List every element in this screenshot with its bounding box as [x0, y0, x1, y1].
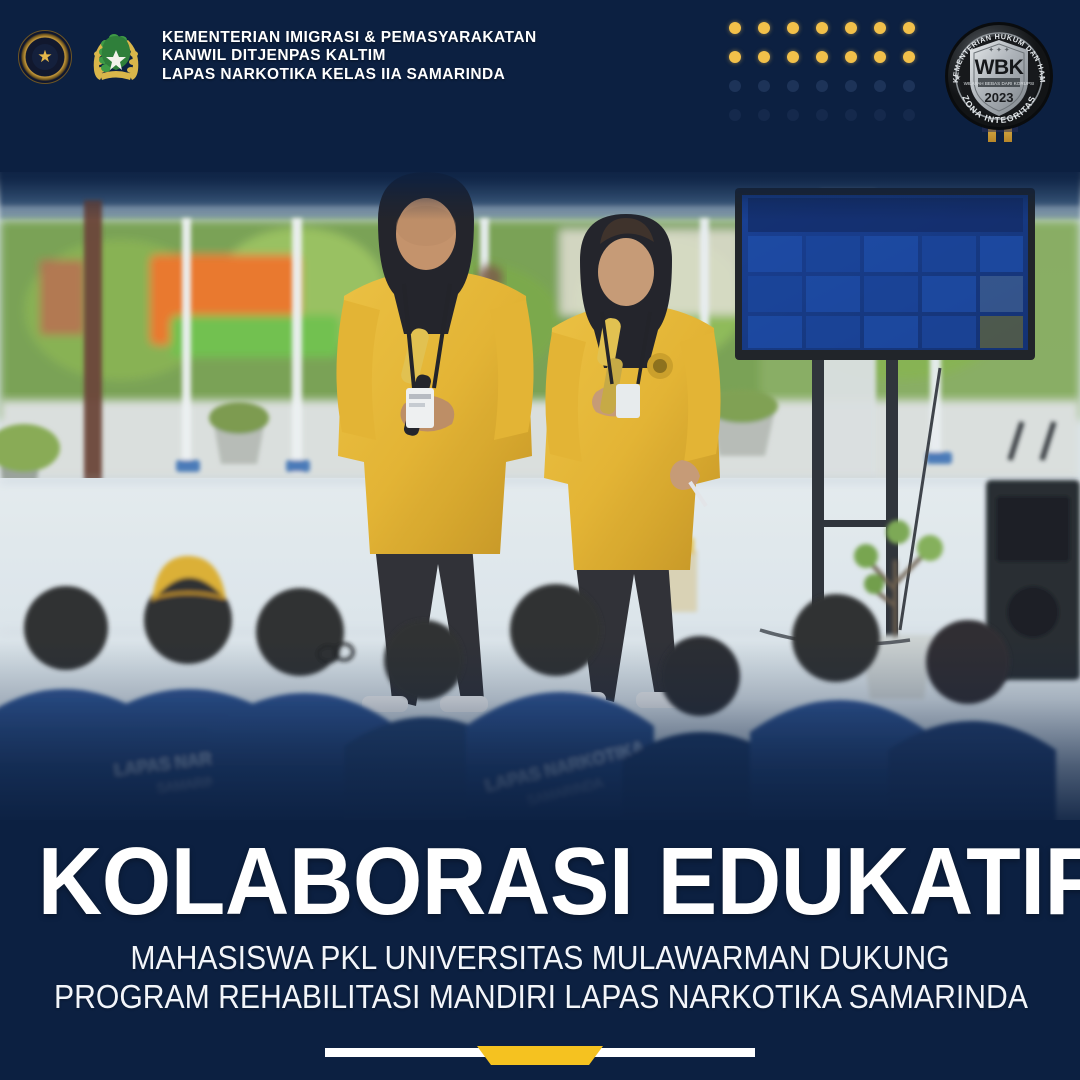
- divider-ornament-icon: [325, 1037, 755, 1067]
- garuda-seal-icon: ★: [18, 30, 72, 84]
- svg-text:✦ ✦ ✦: ✦ ✦ ✦: [988, 46, 1010, 54]
- subtitle-line-2: PROGRAM REHABILITASI MANDIRI LAPAS NARKO…: [54, 979, 1026, 1017]
- header-line-3: LAPAS NARKOTIKA KELAS IIA SAMARINDA: [162, 66, 537, 85]
- dot-grid-ornament: [729, 22, 932, 138]
- wbk-zona-integritas-medal-icon: ✦ ✦ ✦ WBK WILAYAH BEBAS DARI KORUPSI 202…: [940, 18, 1058, 146]
- header-identity: ★: [18, 24, 537, 89]
- photo-illustration: LAPAS NARKOTIKA SAMARINDA LAPAS NARKOTIK…: [0, 160, 1080, 860]
- medal-star-right: ★: [1038, 73, 1045, 82]
- header-text-block: KEMENTERIAN IMIGRASI & PEMASYARAKATAN KA…: [162, 29, 537, 85]
- subtitle-line-1: MAHASISWA PKL UNIVERSITAS MULAWARMAN DUK…: [54, 940, 1026, 978]
- medal-center-text: WBK: [975, 56, 1024, 79]
- poster-canvas: LAPAS NARKOTIKA SAMARINDA LAPAS NARKOTIK…: [0, 0, 1080, 1080]
- page-title: KOLABORASI EDUKATIF: [38, 834, 1042, 930]
- pengayoman-emblem-icon: [84, 24, 148, 89]
- medal-year: 2023: [985, 90, 1014, 105]
- header-line-2: KANWIL DITJENPAS KALTIM: [162, 47, 537, 66]
- event-photo: LAPAS NARKOTIKA SAMARINDA LAPAS NARKOTIK…: [0, 160, 1080, 860]
- medal-sub-text: WILAYAH BEBAS DARI KORUPSI: [964, 81, 1035, 86]
- header-bar: ★: [0, 0, 1080, 172]
- header-line-1: KEMENTERIAN IMIGRASI & PEMASYARAKATAN: [162, 29, 537, 48]
- medal-star-left: ★: [954, 73, 961, 82]
